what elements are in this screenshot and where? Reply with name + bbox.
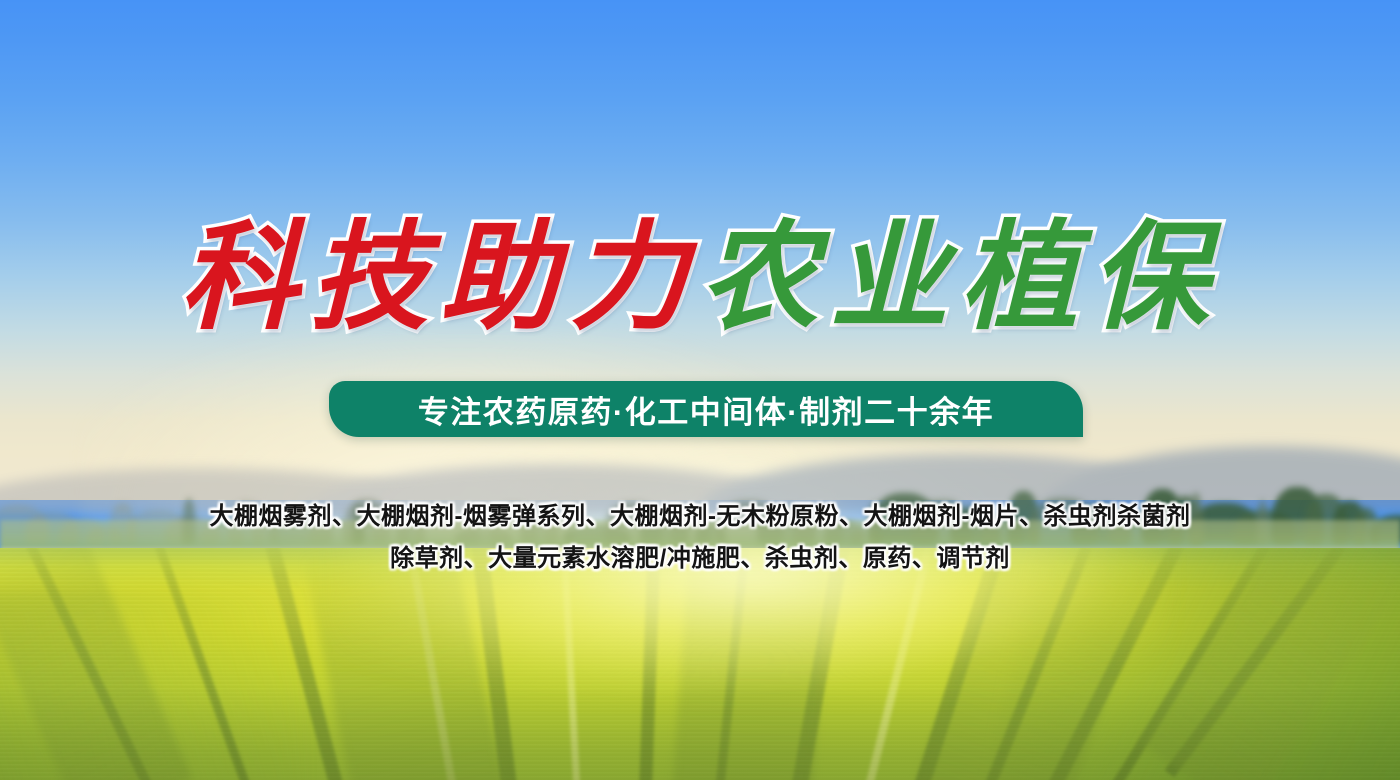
crop-field <box>0 548 1400 780</box>
promo-banner: 科技助力农业植保 专注农药原药·化工中间体·制剂二十余年 大棚烟雾剂、大棚烟剂-… <box>0 0 1400 780</box>
product-line-1: 大棚烟雾剂、大棚烟剂-烟雾弹系列、大棚烟剂-无木粉原粉、大棚烟剂-烟片、杀虫剂杀… <box>0 496 1400 538</box>
product-line-2: 除草剂、大量元素水溶肥/冲施肥、杀虫剂、原药、调节剂 <box>0 538 1400 580</box>
tagline-text: 专注农药原药·化工中间体·制剂二十余年 <box>418 387 994 432</box>
tagline-pill: 专注农药原药·化工中间体·制剂二十余年 <box>329 381 1083 437</box>
product-list: 大棚烟雾剂、大棚烟剂-烟雾弹系列、大棚烟剂-无木粉原粉、大棚烟剂-烟片、杀虫剂杀… <box>0 496 1400 580</box>
